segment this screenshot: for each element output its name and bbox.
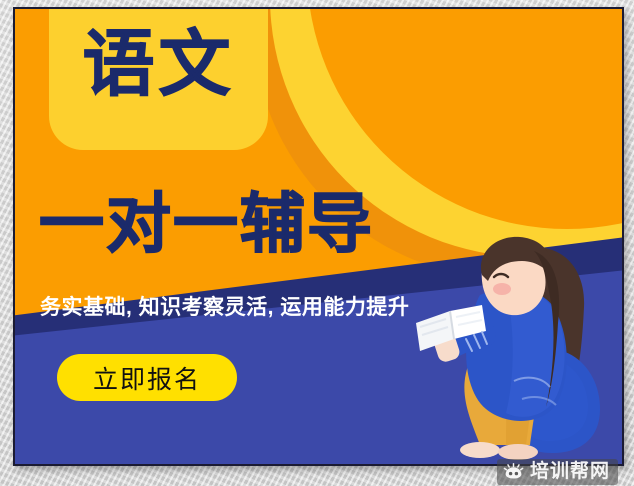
subtitle-text: 务实基础, 知识考察灵活, 运用能力提升 <box>40 297 409 318</box>
cheek-blush <box>493 283 511 295</box>
girl-reading-illustration <box>410 231 624 466</box>
watermark-label: 培训帮网 <box>530 462 610 481</box>
promo-banner-card: 语文 一对一辅导 务实基础, 知识考察灵活, 运用能力提升 立即报名 <box>13 7 624 466</box>
subject-badge: 语文 <box>49 7 268 150</box>
signup-button[interactable]: 立即报名 <box>57 354 237 401</box>
banner-stage: 语文 一对一辅导 务实基础, 知识考察灵活, 运用能力提升 立即报名 <box>0 0 634 486</box>
foot-left <box>460 442 500 458</box>
sunburst-eye-icon <box>503 463 524 480</box>
subject-badge-label: 语文 <box>49 29 268 101</box>
page-title: 一对一辅导 <box>39 191 374 256</box>
watermark: 培训帮网 <box>497 459 618 485</box>
foot-right <box>498 444 538 460</box>
